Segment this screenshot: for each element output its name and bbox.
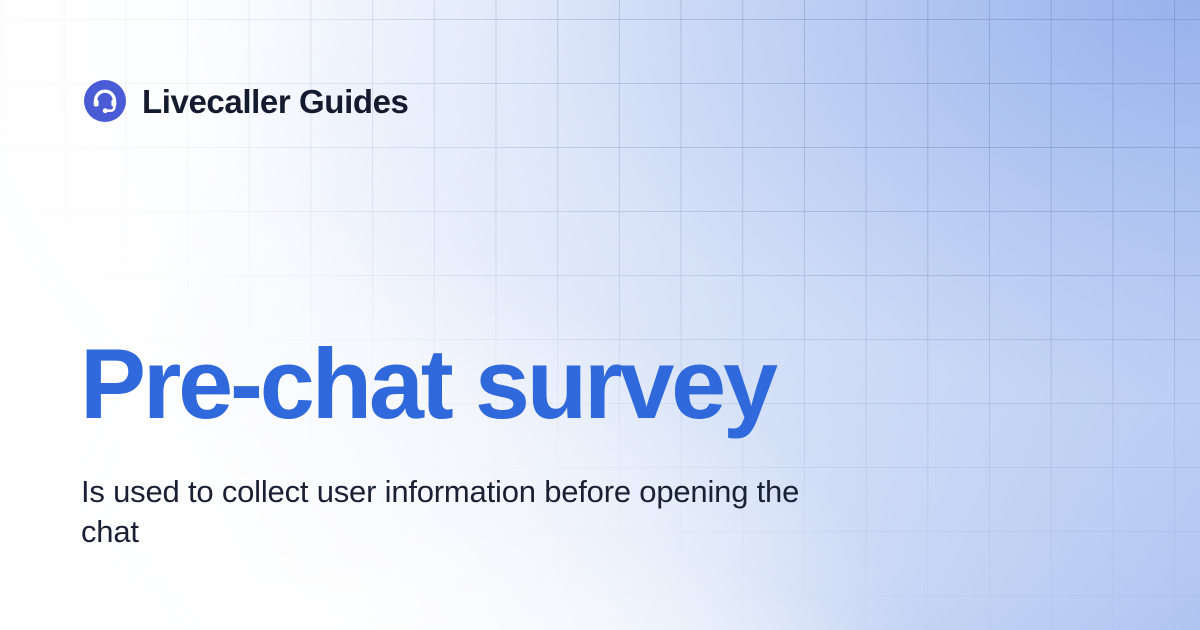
og-card: Livecaller Guides Pre-chat survey Is use… xyxy=(0,0,1200,630)
headset-icon xyxy=(84,80,126,122)
card-content: Livecaller Guides Pre-chat survey Is use… xyxy=(0,0,1200,630)
brand-header[interactable]: Livecaller Guides xyxy=(84,80,409,122)
brand-name-label: Livecaller Guides xyxy=(142,85,409,118)
page-subtitle: Is used to collect user information befo… xyxy=(81,472,841,552)
page-title: Pre-chat survey xyxy=(80,334,775,433)
